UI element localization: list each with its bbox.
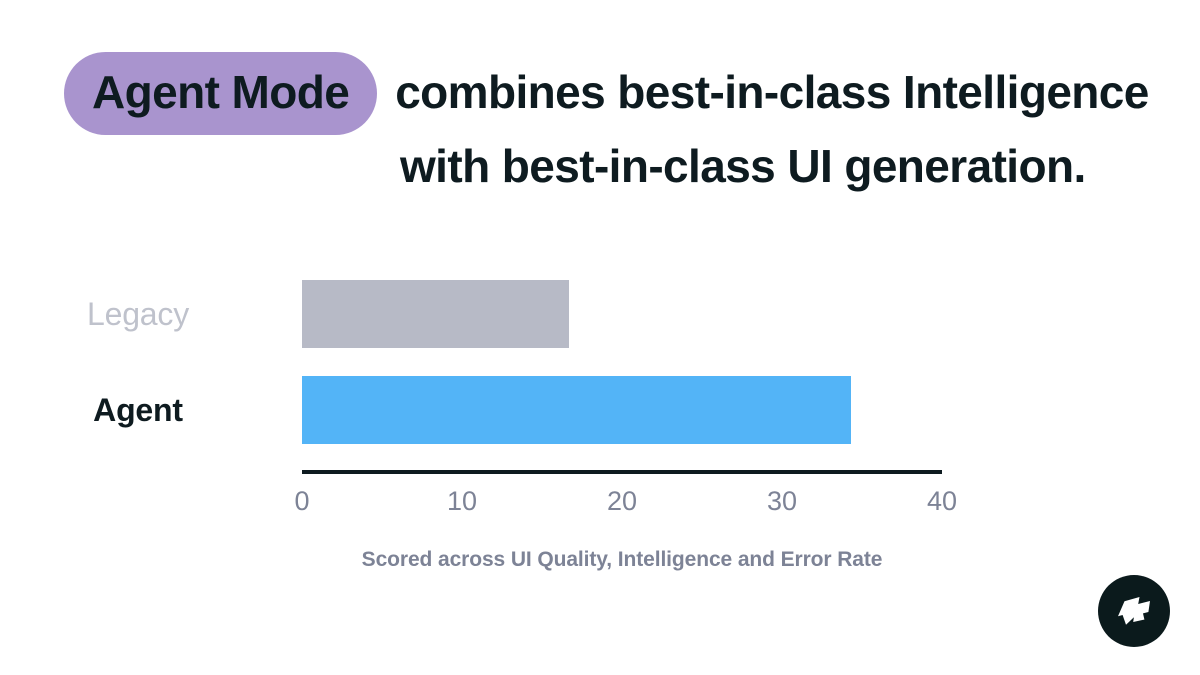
x-tick-40: 40 <box>927 486 957 517</box>
bar-legacy <box>302 280 569 348</box>
chart-row-legacy: Legacy <box>0 280 1200 348</box>
x-tick-10: 10 <box>447 486 477 517</box>
headline-line-1: Agent Modecombines best-in-class Intelli… <box>64 52 1154 135</box>
bar-chart: Legacy Agent 010203040 Scored across UI … <box>0 262 1200 444</box>
headline-line-1-text: combines best-in-class Intelligence <box>395 66 1149 118</box>
x-axis-line <box>302 470 942 474</box>
chart-caption: Scored across UI Quality, Intelligence a… <box>302 548 942 572</box>
headline: Agent Modecombines best-in-class Intelli… <box>64 52 1154 197</box>
x-axis-ticks: 010203040 <box>302 486 942 520</box>
chart-row-agent: Agent <box>0 376 1200 444</box>
category-label-agent: Agent <box>0 392 276 429</box>
x-tick-20: 20 <box>607 486 637 517</box>
agent-mode-pill: Agent Mode <box>64 52 377 135</box>
bar-agent <box>302 376 851 444</box>
category-label-legacy: Legacy <box>0 296 276 333</box>
x-tick-0: 0 <box>294 486 309 517</box>
flag-bolt-logo-icon <box>1115 595 1153 627</box>
chart-plot-area: Legacy Agent 010203040 Scored across UI … <box>0 262 1200 444</box>
headline-line-2: with best-in-class UI generation. <box>64 135 1154 197</box>
x-tick-30: 30 <box>767 486 797 517</box>
logo-badge[interactable] <box>1098 575 1170 647</box>
